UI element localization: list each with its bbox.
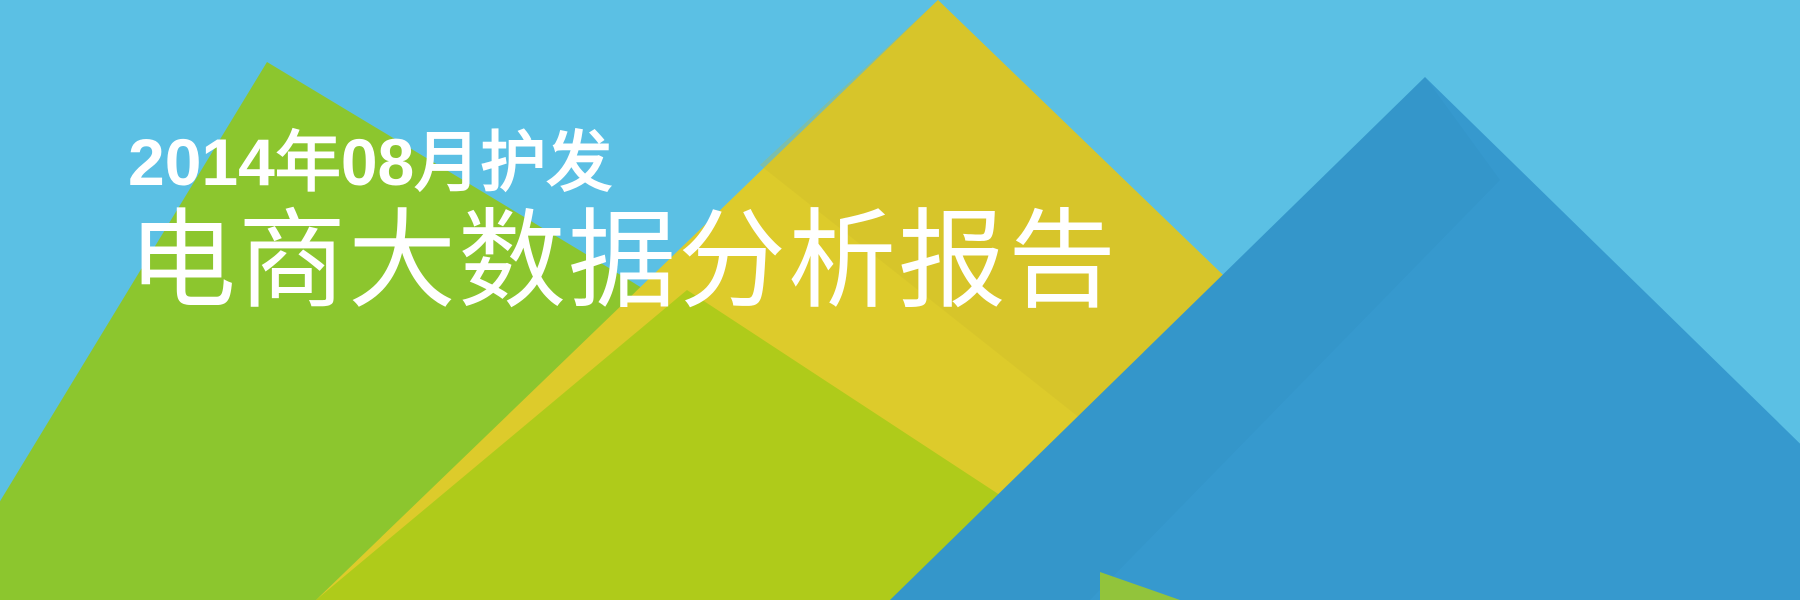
report-cover-slide: 2014年08月护发 电商大数据分析报告: [0, 0, 1800, 600]
background-geometric-artwork: [0, 0, 1800, 600]
